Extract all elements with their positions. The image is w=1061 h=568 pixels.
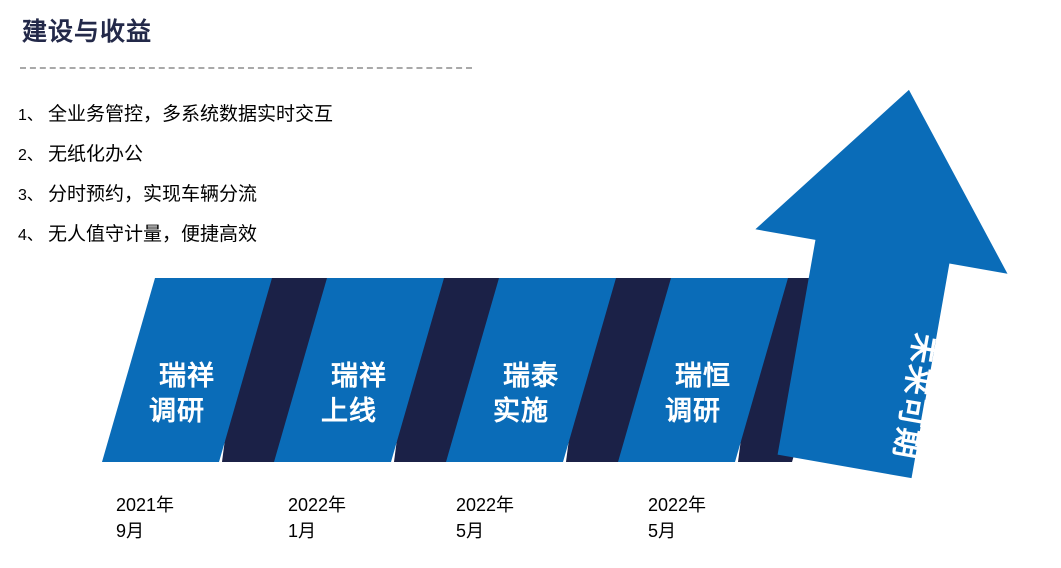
list-item-label: 全业务管控，多系统数据实时交互: [48, 99, 333, 126]
milestone-date-2-month: 1月: [288, 518, 346, 544]
milestone-date-4: 2022年 5月: [648, 492, 706, 544]
milestone-date-1: 2021年 9月: [116, 492, 174, 544]
growth-arrow[interactable]: [718, 68, 1036, 489]
growth-arrow-label: 未来可期: [887, 331, 942, 463]
process-step-2-line2: 上线: [321, 396, 377, 426]
process-step-1-shape: [102, 278, 272, 462]
process-step-3-line2: 实施: [493, 395, 549, 426]
process-step-2[interactable]: 瑞祥 上线: [274, 278, 444, 462]
list-item-label: 无纸化办公: [48, 139, 143, 166]
process-step-1-line1: 瑞祥: [159, 360, 215, 391]
list-item-label: 分时预约，实现车辆分流: [48, 179, 257, 206]
chevron-wedge-4: [738, 278, 846, 462]
process-step-1-line2: 调研: [149, 396, 205, 426]
process-timeline-diagram: 瑞祥 调研 瑞祥 上线 瑞泰 实施 瑞恒 调研 未来可期: [0, 0, 1061, 568]
chevron-wedge-1: [222, 278, 330, 462]
list-item-index: 1、: [18, 101, 48, 125]
milestone-date-4-year: 2022年: [648, 492, 706, 518]
list-item: 1、 全业务管控，多系统数据实时交互: [18, 99, 638, 139]
process-step-4[interactable]: 瑞恒 调研: [618, 278, 788, 462]
process-step-3-line1: 瑞泰: [503, 361, 559, 391]
chevron-wedge-3: [566, 278, 674, 462]
list-item-index: 2、: [18, 141, 48, 165]
page-title: 建设与收益: [22, 12, 152, 48]
process-step-4-line2: 调研: [665, 396, 721, 426]
milestone-date-2-year: 2022年: [288, 492, 346, 518]
process-step-3-shape: [446, 278, 616, 462]
process-step-4-shape: [618, 278, 788, 462]
benefits-list: 1、 全业务管控，多系统数据实时交互 2、 无纸化办公 3、 分时预约，实现车辆…: [18, 99, 638, 259]
process-step-1[interactable]: 瑞祥 调研: [102, 278, 272, 462]
milestone-date-1-year: 2021年: [116, 492, 174, 518]
milestone-date-3: 2022年 5月: [456, 492, 514, 544]
title-divider: [20, 67, 472, 69]
list-item: 2、 无纸化办公: [18, 139, 638, 179]
list-item-label: 无人值守计量，便捷高效: [48, 219, 257, 246]
list-item-index: 3、: [18, 181, 48, 205]
process-step-2-shape: [274, 278, 444, 462]
list-item-index: 4、: [18, 221, 48, 245]
milestone-date-3-month: 5月: [456, 518, 514, 544]
milestone-date-2: 2022年 1月: [288, 492, 346, 544]
milestone-date-3-year: 2022年: [456, 492, 514, 518]
chevron-wedge-2: [394, 278, 502, 462]
milestone-date-1-month: 9月: [116, 518, 174, 544]
list-item: 3、 分时预约，实现车辆分流: [18, 179, 638, 219]
process-step-3[interactable]: 瑞泰 实施: [446, 278, 616, 462]
growth-arrow-shape: [718, 68, 1036, 489]
list-item: 4、 无人值守计量，便捷高效: [18, 219, 638, 259]
milestone-date-4-month: 5月: [648, 518, 706, 544]
process-step-2-line1: 瑞祥: [331, 360, 387, 391]
process-step-4-line1: 瑞恒: [675, 361, 731, 391]
